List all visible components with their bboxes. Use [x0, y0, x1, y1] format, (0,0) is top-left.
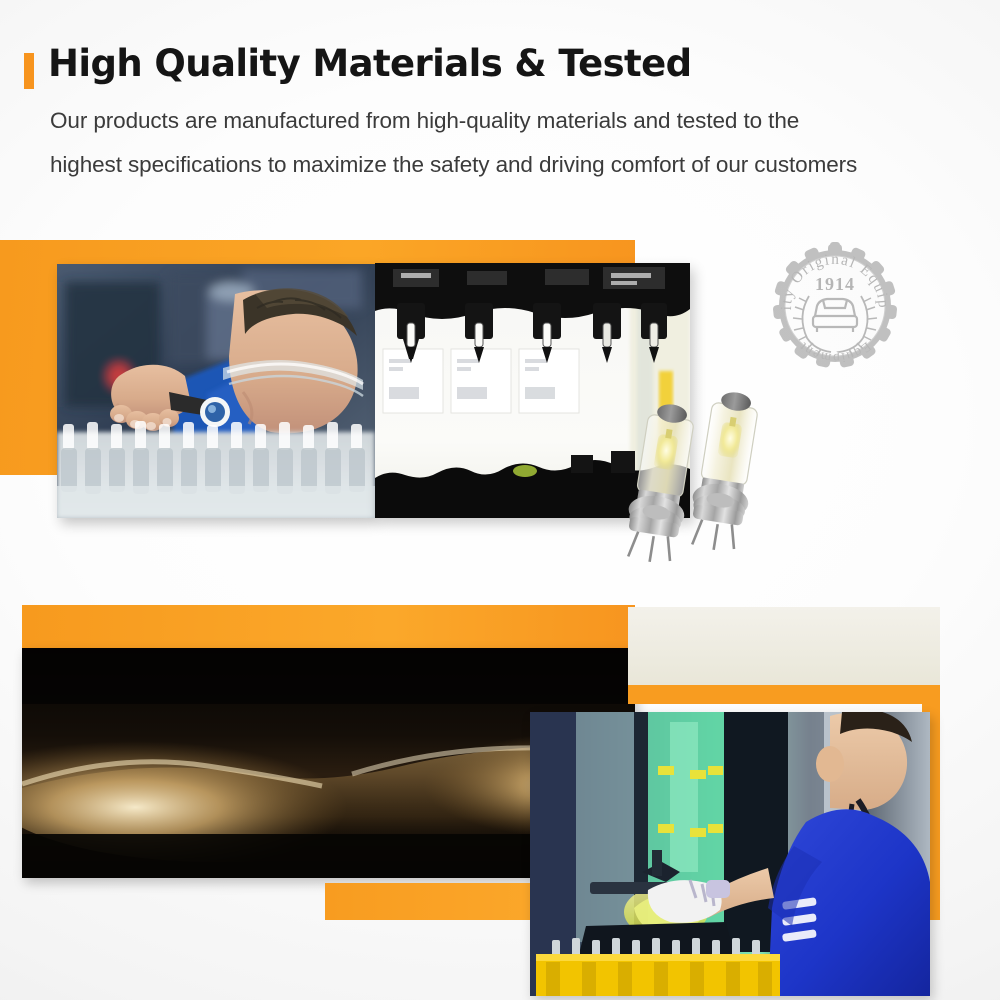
bulb-pair-art [618, 388, 810, 578]
subtitle-line-1: Our products are manufactured from high-… [50, 108, 799, 134]
bottom-right-orange-bar [628, 685, 940, 704]
seal-year: 1914 [815, 274, 855, 294]
beige-accent-panel [628, 607, 940, 685]
quality-seal-badge: Quality Original Equipment 1914 [773, 238, 897, 368]
page-title: High Quality Materials & Tested [48, 42, 691, 85]
title-accent-bar [24, 53, 34, 89]
worker-photo-art [530, 712, 930, 996]
bottom-accent-orange-bar [325, 883, 540, 920]
factory-worker-photo [530, 712, 930, 996]
promo-banner: High Quality Materials & Tested Our prod… [0, 0, 1000, 1000]
subtitle-line-2: highest specifications to maximize the s… [50, 152, 857, 178]
inspection-photo-art [57, 264, 375, 518]
quality-inspection-photo [57, 264, 375, 518]
quality-seal-art: Quality Original Equipment 1914 [773, 238, 897, 368]
halogen-bulb-pair [618, 388, 810, 578]
bottom-left-orange-bar [22, 605, 635, 648]
